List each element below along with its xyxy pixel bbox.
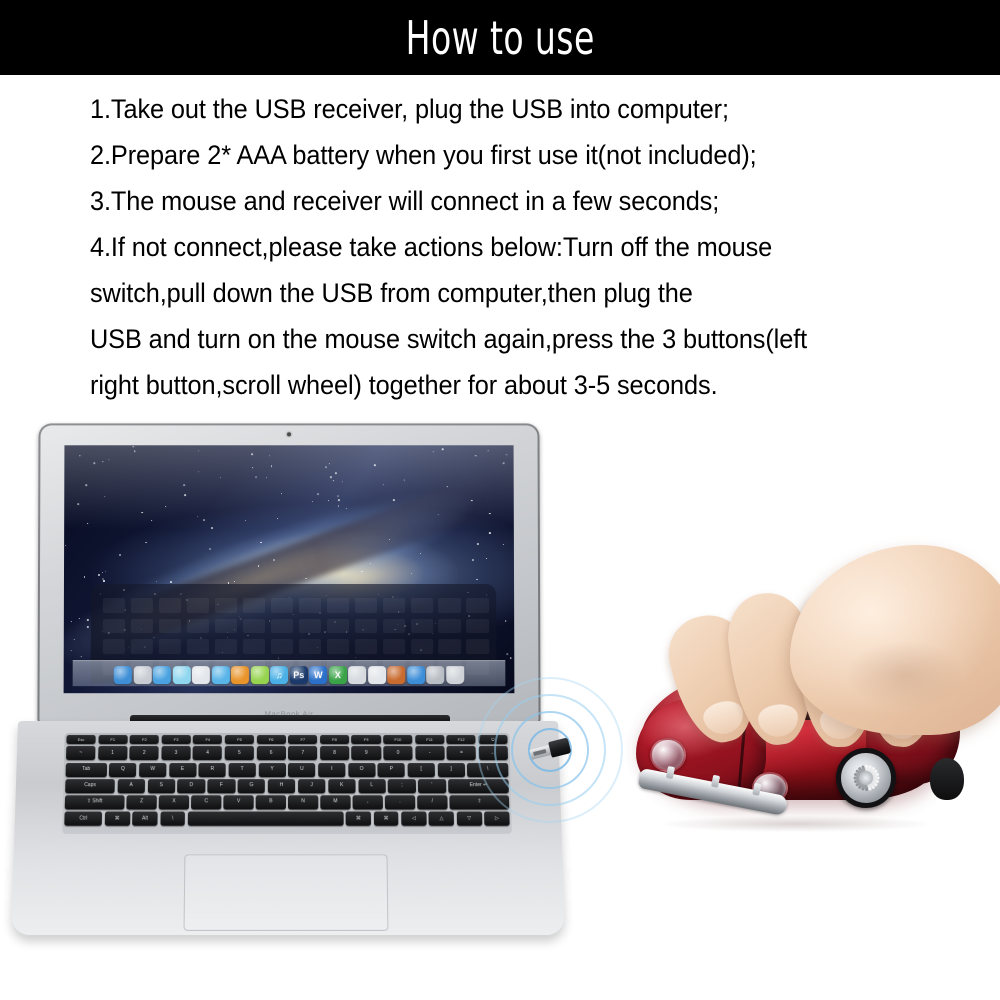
media-icon[interactable]	[387, 666, 405, 684]
star-icon	[128, 647, 129, 648]
launchpad-icon[interactable]	[133, 666, 151, 684]
keyboard-key[interactable]: .	[385, 795, 415, 809]
keyboard-row: Ctrl⌘Alt\⌘⌘◁△▽▷	[64, 812, 509, 826]
star-icon	[132, 446, 133, 447]
instruction-line: 3.The mouse and receiver will connect in…	[90, 178, 930, 224]
human-hand	[670, 545, 1000, 795]
star-icon	[324, 631, 326, 633]
star-icon	[392, 596, 394, 598]
knuckle-shading	[845, 640, 965, 710]
keyboard-key[interactable]: F2	[130, 735, 159, 744]
star-icon	[475, 455, 477, 457]
keyboard-key[interactable]: L	[358, 779, 386, 793]
finder-icon[interactable]	[114, 666, 132, 684]
instruction-line: switch,pull down the USB from computer,t…	[90, 270, 930, 316]
star-icon	[292, 614, 294, 616]
photoshop-icon[interactable]: Ps	[290, 666, 308, 684]
laptop-screen: ♫PsWX	[64, 445, 515, 693]
green-character-icon[interactable]	[251, 666, 269, 684]
word-icon[interactable]: W	[309, 666, 327, 684]
product-photo: ♫PsWX MacBook Air EscF1F2F3F4F5F6F7F8F9F…	[0, 405, 1000, 1000]
keyboard-key[interactable]: \	[160, 812, 185, 826]
chart-icon[interactable]	[368, 666, 386, 684]
keyboard-key[interactable]: P	[378, 763, 405, 777]
keyboard-key[interactable]: [	[408, 763, 435, 777]
keyboard-key[interactable]: E	[169, 763, 196, 777]
keyboard-key[interactable]: Z	[127, 795, 157, 809]
keyboard-key[interactable]: R	[199, 763, 226, 777]
star-icon	[325, 466, 327, 468]
keyboard-key[interactable]: ~	[66, 746, 95, 760]
star-icon	[289, 597, 290, 598]
star-icon	[103, 580, 105, 582]
star-icon	[252, 467, 253, 468]
star-icon	[510, 657, 511, 658]
usb-receiver-group	[470, 675, 630, 825]
keyboard-key[interactable]: B	[256, 795, 286, 809]
star-icon	[198, 450, 199, 451]
star-icon	[98, 574, 100, 576]
star-icon	[85, 485, 87, 487]
star-icon	[433, 451, 434, 452]
star-icon	[411, 573, 412, 574]
star-icon	[503, 463, 505, 465]
keyboard-key[interactable]: -	[415, 746, 444, 760]
keyboard-key[interactable]: 5	[225, 746, 254, 760]
keyboard-row: ~1234567890-=←	[66, 746, 508, 760]
fingernail	[757, 702, 801, 739]
instruction-line: 4.If not connect,please take actions bel…	[90, 224, 930, 270]
star-icon	[416, 623, 418, 625]
keyboard-key[interactable]: N	[288, 795, 318, 809]
keyboard-key[interactable]: 7	[288, 746, 317, 760]
star-icon	[211, 527, 213, 529]
instruction-line: right button,scroll wheel) together for …	[90, 362, 930, 408]
star-icon	[374, 464, 376, 466]
keyboard-key[interactable]: F10	[383, 735, 412, 744]
star-icon	[245, 520, 246, 521]
instruction-line: 2.Prepare 2* AAA battery when you first …	[90, 132, 930, 178]
star-icon	[389, 539, 390, 540]
keyboard-key[interactable]: T	[229, 763, 256, 777]
keyboard-key[interactable]: S	[147, 779, 175, 793]
keyboard[interactable]: EscF1F2F3F4F5F6F7F8F9F10F11F12⏻~12345678…	[62, 733, 512, 834]
star-icon	[102, 572, 103, 573]
keyboard-key[interactable]: ⇧ Shift	[65, 795, 125, 809]
star-icon	[333, 480, 334, 481]
keyboard-key[interactable]: Tab	[66, 763, 107, 777]
keyboard-key[interactable]: '	[418, 779, 446, 793]
star-icon	[80, 455, 81, 456]
star-icon	[394, 629, 395, 630]
star-icon	[203, 519, 205, 521]
settings-gear-icon[interactable]	[426, 666, 444, 684]
instruction-line: USB and turn on the mouse switch again,p…	[90, 316, 930, 362]
keyboard-key[interactable]: U	[288, 763, 315, 777]
excel-icon[interactable]: X	[329, 666, 347, 684]
keyboard-key[interactable]: ⌘	[105, 812, 130, 826]
keyboard-key[interactable]: 8	[320, 746, 349, 760]
keyboard-key[interactable]: G	[238, 779, 266, 793]
trash-icon[interactable]	[446, 666, 464, 684]
keyboard-key[interactable]: F11	[415, 735, 444, 744]
keyboard-key[interactable]: 3	[161, 746, 190, 760]
star-icon	[80, 656, 81, 657]
star-icon	[334, 621, 336, 623]
keyboard-key[interactable]: I	[318, 763, 345, 777]
star-icon	[489, 532, 491, 534]
macos-dock[interactable]: ♫PsWX	[73, 660, 506, 686]
keyboard-row: EscF1F2F3F4F5F6F7F8F9F10F11F12⏻	[66, 735, 507, 744]
keyboard-key[interactable]: F8	[320, 735, 349, 744]
keyboard-key[interactable]: F5	[225, 735, 254, 744]
keyboard-key[interactable]: △	[429, 812, 454, 826]
star-icon	[144, 646, 146, 648]
keyboard-key[interactable]: 6	[257, 746, 286, 760]
star-icon	[338, 499, 340, 501]
star-icon	[378, 594, 379, 595]
star-icon	[123, 589, 125, 591]
star-icon	[227, 637, 228, 638]
star-icon	[503, 544, 504, 545]
keyboard-key[interactable]: M	[321, 795, 351, 809]
star-icon	[234, 629, 235, 630]
keyboard-key[interactable]: X	[159, 795, 189, 809]
star-icon	[183, 484, 185, 486]
star-icon	[124, 629, 125, 630]
keyboard-key[interactable]: Esc	[66, 735, 95, 744]
star-icon	[102, 578, 104, 580]
star-icon	[227, 632, 228, 633]
keyboard-key[interactable]: W	[139, 763, 166, 777]
keyboard-key[interactable]: K	[328, 779, 356, 793]
star-icon	[105, 571, 106, 572]
star-icon	[505, 620, 506, 621]
star-icon	[337, 495, 339, 497]
star-icon	[383, 484, 384, 485]
keyboard-key[interactable]: 2	[129, 746, 158, 760]
keyboard-key[interactable]: Q	[109, 763, 137, 777]
star-icon	[328, 500, 329, 501]
keyboard-key[interactable]: ⌘	[346, 812, 371, 826]
star-icon	[77, 503, 79, 505]
keyboard-key[interactable]: /	[417, 795, 447, 809]
keyboard-row: TabQWERTYUIOP[]\	[66, 763, 509, 777]
webcam-icon	[287, 432, 291, 436]
keyboard-key[interactable]: Caps	[65, 779, 115, 793]
keyboard-key[interactable]: F6	[257, 735, 286, 744]
star-icon	[467, 592, 468, 593]
star-icon	[108, 459, 109, 460]
keyboard-key[interactable]: A	[117, 779, 145, 793]
star-icon	[472, 559, 474, 561]
keyboard-key[interactable]: ;	[388, 779, 416, 793]
star-icon	[278, 657, 279, 658]
star-icon	[330, 477, 331, 478]
star-icon	[273, 559, 275, 561]
keyboard-key[interactable]: J	[298, 779, 326, 793]
keyboard-row: ⇧ ShiftZXCVBNM,./⇧	[65, 795, 510, 809]
star-icon	[146, 542, 147, 543]
star-icon	[170, 581, 172, 583]
star-icon	[102, 461, 103, 462]
trackpad[interactable]	[183, 854, 388, 931]
star-icon	[355, 657, 356, 658]
photos-icon[interactable]	[192, 666, 210, 684]
header-banner: How to use	[0, 0, 1000, 75]
star-icon	[200, 637, 202, 639]
laptop-lid: ♫PsWX MacBook Air	[37, 423, 540, 723]
safari-icon[interactable]	[153, 666, 171, 684]
instructions-block: 1.Take out the USB receiver, plug the US…	[90, 86, 970, 408]
keyboard-key[interactable]: F3	[161, 735, 190, 744]
star-icon	[435, 623, 436, 624]
keyboard-key[interactable]: Ctrl	[64, 812, 102, 826]
keyboard-key[interactable]: F4	[193, 735, 222, 744]
keyboard-key[interactable]: ]	[437, 763, 464, 777]
keyboard-key[interactable]	[188, 812, 344, 826]
keyboard-key[interactable]: Alt	[132, 812, 157, 826]
keyboard-key[interactable]: 9	[352, 746, 381, 760]
star-icon	[363, 629, 364, 630]
keyboard-key[interactable]: O	[348, 763, 375, 777]
star-icon	[319, 612, 320, 613]
star-icon	[87, 626, 89, 628]
star-icon	[476, 579, 477, 580]
star-icon	[420, 553, 421, 554]
qq-penguin-icon[interactable]	[231, 666, 249, 684]
star-icon	[104, 496, 105, 497]
instruction-line: 1.Take out the USB receiver, plug the US…	[90, 86, 930, 132]
keyboard-row: CapsASDFGHJKL;'Enter ↵	[65, 779, 509, 793]
keyboard-key[interactable]: H	[268, 779, 295, 793]
star-icon	[471, 500, 473, 502]
keyboard-key[interactable]: D	[177, 779, 205, 793]
keyboard-key[interactable]: C	[191, 795, 221, 809]
hand-and-mouse	[630, 545, 1000, 965]
star-icon	[108, 632, 110, 634]
keyboard-key[interactable]: ⌘	[374, 812, 399, 826]
app-store-icon[interactable]	[407, 666, 425, 684]
pen-tool-icon[interactable]	[348, 666, 366, 684]
fingernail	[700, 697, 747, 738]
star-icon	[71, 621, 72, 622]
star-icon	[188, 620, 189, 621]
keyboard-key[interactable]: 4	[193, 746, 222, 760]
keyboard-key[interactable]: ,	[353, 795, 383, 809]
keyboard-key[interactable]: V	[224, 795, 254, 809]
itunes-icon[interactable]: ♫	[270, 666, 288, 684]
keyboard-key[interactable]: F7	[288, 735, 317, 744]
star-icon	[184, 494, 186, 495]
keyboard-key[interactable]: F	[208, 779, 236, 793]
keyboard-key[interactable]: 0	[383, 746, 412, 760]
keyboard-key[interactable]: ◁	[401, 812, 426, 826]
page-root: How to use 1.Take out the USB receiver, …	[0, 0, 1000, 1000]
keyboard-key[interactable]: F9	[352, 735, 381, 744]
star-icon	[156, 581, 157, 582]
keyboard-key[interactable]: Y	[258, 763, 285, 777]
keyboard-key[interactable]: F1	[98, 735, 127, 744]
mouse-shadow	[660, 816, 930, 832]
keyboard-key[interactable]: 1	[98, 746, 127, 760]
star-icon	[87, 523, 88, 524]
browser-icon[interactable]	[212, 666, 230, 684]
messages-icon[interactable]	[173, 666, 191, 684]
page-title: How to use	[405, 15, 594, 61]
star-icon	[99, 593, 101, 595]
star-icon	[361, 571, 362, 572]
